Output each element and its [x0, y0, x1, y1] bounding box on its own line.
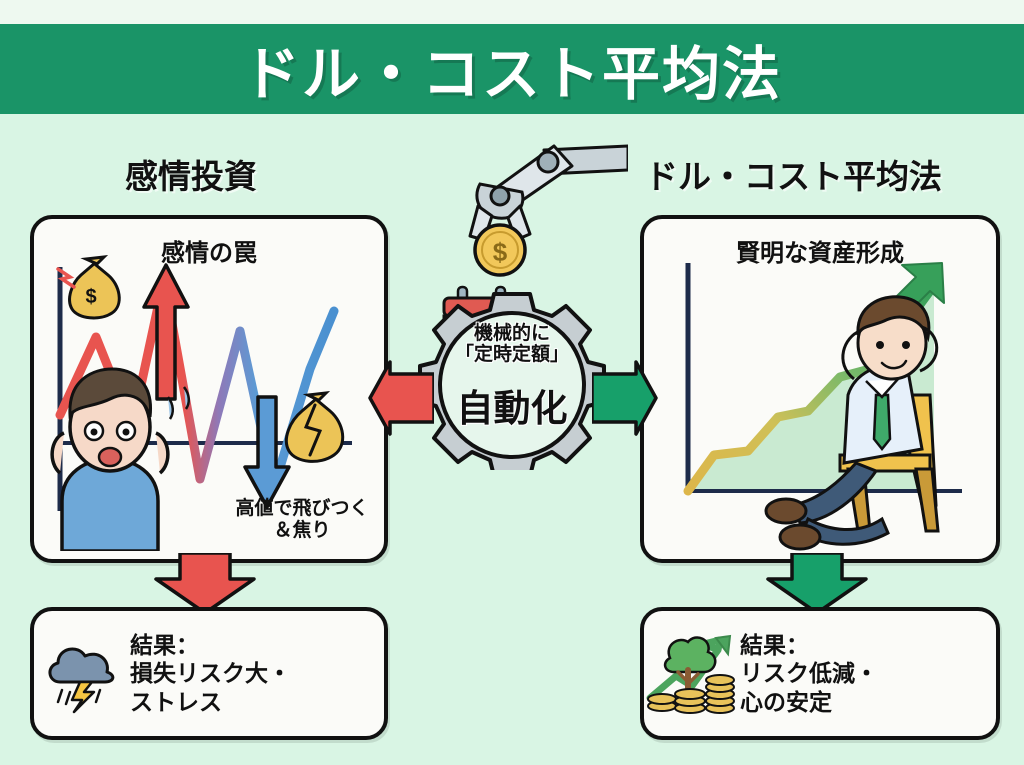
dollar-coin-icon: $ [475, 225, 525, 275]
svg-text:$: $ [493, 237, 508, 267]
right-result-line3: 心の安定 [740, 688, 878, 716]
left-annotation-top-line1: 高値で飛びつく [217, 498, 387, 520]
left-card-emotional-trap: 感情の罠 [30, 215, 388, 563]
top-strip [0, 0, 1024, 24]
left-result-line3: ストレス [130, 688, 291, 716]
title-banner: ドル・コスト平均法 [0, 24, 1024, 114]
red-down-arrow [150, 553, 260, 615]
left-result-line2: 損失リスク大・ [130, 659, 291, 687]
infographic-root: ドル・コスト平均法 感情投資 ドル・コスト平均法 感情の罠 [0, 0, 1024, 765]
left-card-title: 感情の罠 [34, 233, 384, 268]
svg-text:$: $ [85, 286, 96, 308]
right-result-line1: 結果： [740, 631, 878, 659]
right-column-heading: ドル・コスト平均法 [645, 150, 942, 198]
left-result-box: 結果： 損失リスク大・ ストレス [30, 607, 388, 740]
broken-money-bag-icon [286, 393, 342, 461]
red-left-flow-arrow [368, 360, 434, 436]
green-right-flow-arrow [592, 360, 658, 436]
storm-cloud-icon [34, 611, 130, 736]
right-result-line2: リスク低減・ [740, 659, 878, 687]
left-annotation-top: 高値で飛びつく ＆焦り [217, 498, 387, 542]
left-column-heading: 感情投資 [125, 150, 257, 198]
left-result-line1: 結果： [130, 631, 291, 659]
gear-icon [420, 294, 604, 470]
left-annotation-top-line2: ＆焦り [217, 520, 387, 542]
growth-chart [644, 219, 988, 551]
right-card-title: 賢明な資産形成 [644, 233, 996, 268]
right-card-wise-growth: 賢明な資産形成 [640, 215, 1000, 563]
tree-coins-growth-icon [644, 611, 740, 736]
left-result-text: 結果： 損失リスク大・ ストレス [130, 631, 291, 715]
page-title: ドル・コスト平均法 [242, 27, 782, 111]
green-down-arrow [762, 553, 872, 615]
right-result-box: 結果： リスク低減・ 心の安定 [640, 607, 1000, 740]
right-result-text: 結果： リスク低減・ 心の安定 [740, 631, 878, 715]
